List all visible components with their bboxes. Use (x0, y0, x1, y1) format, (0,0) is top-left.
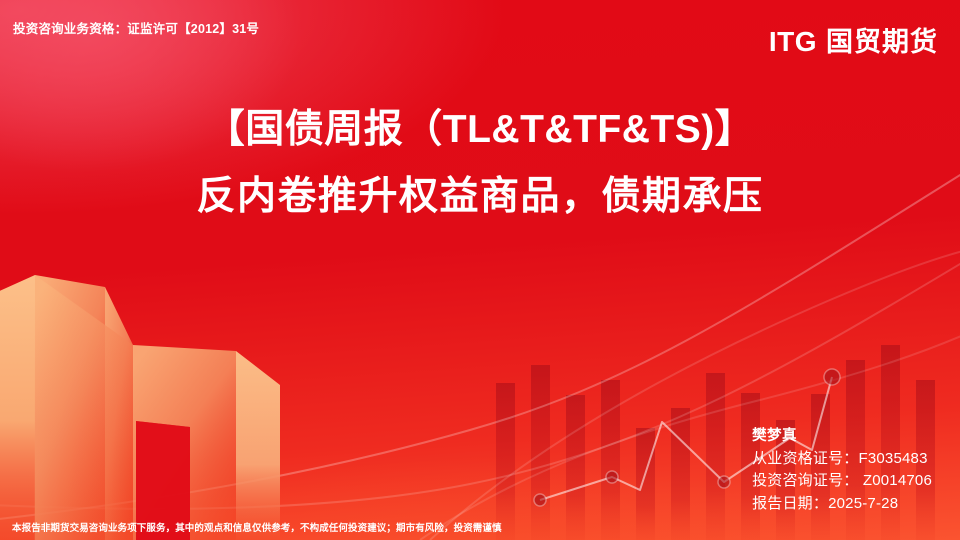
footer-bar: 本报告非期货交易咨询业务项下服务，其中的观点和信息仅供参考，不构成任何投资建议；… (0, 514, 960, 540)
footer-disclaimer: 本报告非期货交易咨询业务项下服务，其中的观点和信息仅供参考，不构成任何投资建议；… (0, 520, 502, 534)
title-block: 【国债周报（TL&T&TF&TS)】 反内卷推升权益商品，债期承压 (0, 104, 960, 223)
qualification-note: 投资咨询业务资格：证监许可【2012】31号 (13, 18, 259, 37)
page-subtitle: 反内卷推升权益商品，债期承压 (0, 171, 960, 222)
page-title: 【国债周报（TL&T&TF&TS)】 (0, 104, 960, 155)
logo-latin-text: ITG (769, 26, 817, 58)
report-date: 报告日期：2025-7-28 (752, 493, 932, 516)
author-info-block: 樊梦真 从业资格证号：F3035483 投资咨询证号： Z0014706 报告日… (752, 425, 932, 516)
logo-chinese-text: 国贸期货 (826, 20, 938, 59)
report-cover-slide: 投资咨询业务资格：证监许可【2012】31号 ITG 国贸期货 【国债周报（TL… (0, 0, 960, 540)
author-practice-license: 从业资格证号：F3035483 (752, 448, 932, 471)
itg-logo: ITG 国贸期货 (769, 20, 938, 59)
author-name: 樊梦真 (752, 425, 932, 447)
author-consulting-license: 投资咨询证号： Z0014706 (752, 470, 932, 493)
